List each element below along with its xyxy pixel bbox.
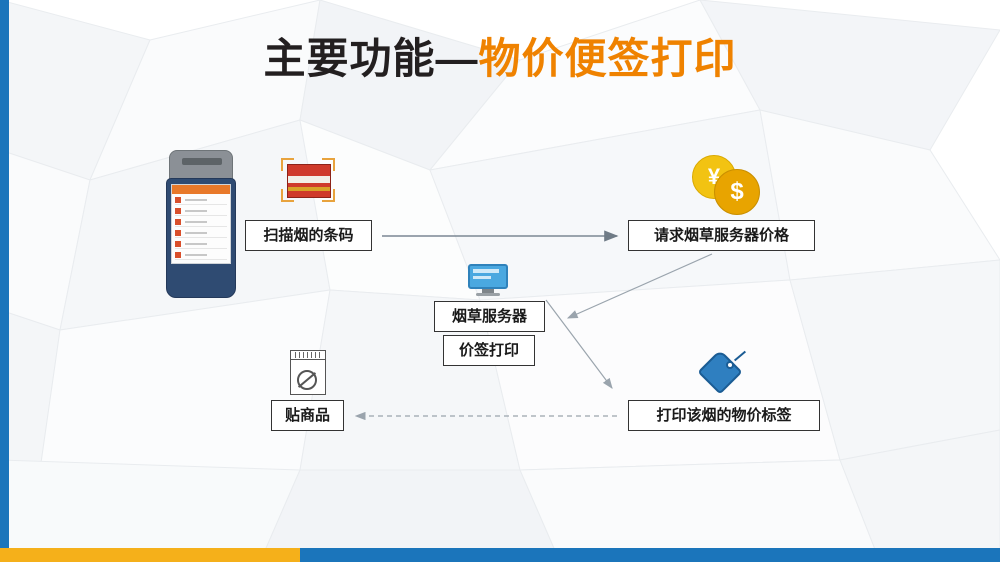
pos-screen-row — [175, 218, 227, 227]
node-print-price-label[interactable]: 打印该烟的物价标签 — [628, 400, 820, 431]
page-title-accent: 物价便签打印 — [479, 35, 737, 82]
tag-shape — [697, 349, 742, 394]
page-title: 主要功能—物价便签打印 — [0, 34, 1000, 84]
price-tag-icon — [700, 350, 748, 396]
scan-corner-bottom-right — [322, 189, 335, 202]
pos-screen-row — [175, 229, 227, 238]
page-title-main: 主要功能— — [263, 35, 478, 82]
slide-canvas: 主要功能—物价便签打印 — [0, 0, 1000, 562]
node-tobacco-server[interactable]: 烟草服务器 — [434, 301, 545, 332]
node-stick-product[interactable]: 贴商品 — [271, 400, 344, 431]
node-print-price-label-text: 打印该烟的物价标签 — [656, 408, 791, 423]
node-tobacco-server-label: 烟草服务器 — [452, 309, 527, 324]
cigarette-pack-icon — [288, 350, 328, 396]
monitor-icon — [468, 264, 508, 296]
monitor-screen-line — [473, 269, 499, 273]
pos-screen-header — [172, 185, 230, 194]
pos-paper-slot — [182, 158, 222, 165]
coins-icon: ¥ $ — [692, 155, 758, 213]
barcode-scan-icon — [281, 158, 335, 202]
edge-request-to-printlabel — [546, 300, 612, 388]
tag-hole — [726, 361, 734, 369]
pos-terminal-icon — [166, 150, 234, 296]
tag-string — [734, 351, 746, 362]
pos-screen-row — [175, 207, 227, 216]
bottom-bar — [0, 548, 1000, 562]
pos-screen-row — [175, 196, 227, 205]
pos-screen — [171, 184, 231, 264]
node-print-tag-label: 价签打印 — [459, 343, 519, 358]
scan-corner-top-right — [322, 158, 335, 171]
node-request-price[interactable]: 请求烟草服务器价格 — [628, 220, 815, 251]
bottom-bar-blue-segment — [300, 548, 1000, 562]
scan-corner-bottom-left — [281, 189, 294, 202]
carton-stripe-light — [288, 176, 330, 183]
scan-corner-top-left — [281, 158, 294, 171]
edge-request-down — [568, 254, 712, 318]
coin-dollar: $ — [714, 169, 760, 215]
node-print-tag[interactable]: 价签打印 — [443, 335, 535, 366]
bottom-bar-yellow-segment — [0, 548, 300, 562]
node-scan-barcode[interactable]: 扫描烟的条码 — [245, 220, 372, 251]
node-request-price-label: 请求烟草服务器价格 — [654, 228, 789, 243]
pos-screen-row — [175, 251, 227, 260]
node-scan-barcode-label: 扫描烟的条码 — [263, 228, 353, 243]
pos-screen-row — [175, 240, 227, 249]
node-stick-product-label: 贴商品 — [285, 408, 330, 423]
monitor-base — [476, 293, 500, 296]
monitor-screen-line — [473, 276, 491, 279]
